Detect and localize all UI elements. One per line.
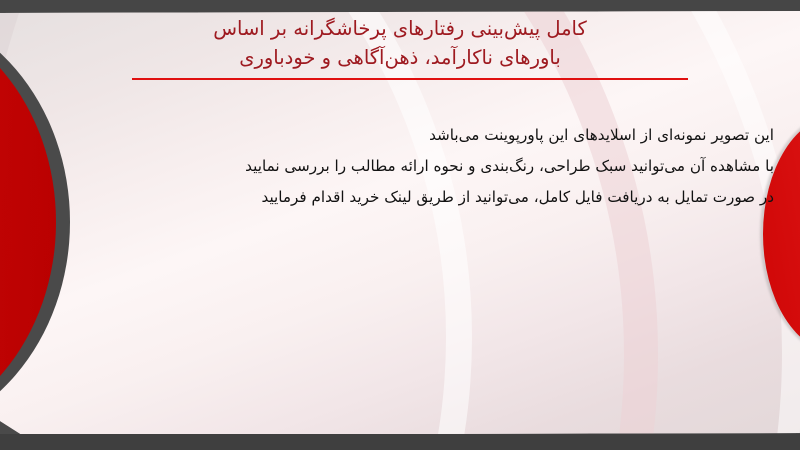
body-line-1: این تصویر نمونه‌ای از اسلایدهای این پاور… [36, 120, 774, 151]
title-underline-rule [132, 78, 688, 80]
slide-body-text: این تصویر نمونه‌ای از اسلایدهای این پاور… [36, 120, 774, 213]
frame-top-band [0, 0, 800, 12]
title-line-1: کامل پیش‌بینی رفتارهای پرخاشگرانه بر اسا… [110, 14, 690, 43]
slide-title: کامل پیش‌بینی رفتارهای پرخاشگرانه بر اسا… [110, 14, 690, 72]
body-line-2: با مشاهده آن می‌توانید سبک طراحی، رنگ‌بن… [36, 151, 774, 182]
slide-content-panel [0, 11, 800, 435]
body-line-3: در صورت تمایل به دریافت فایل کامل، می‌تو… [36, 182, 774, 213]
slide-canvas: کامل پیش‌بینی رفتارهای پرخاشگرانه بر اسا… [0, 0, 800, 450]
frame-bottom-band [0, 434, 800, 450]
panel-background-wash [0, 11, 800, 435]
title-line-2: باورهای ناکارآمد، ذهن‌آگاهی و خودباوری [110, 43, 690, 72]
